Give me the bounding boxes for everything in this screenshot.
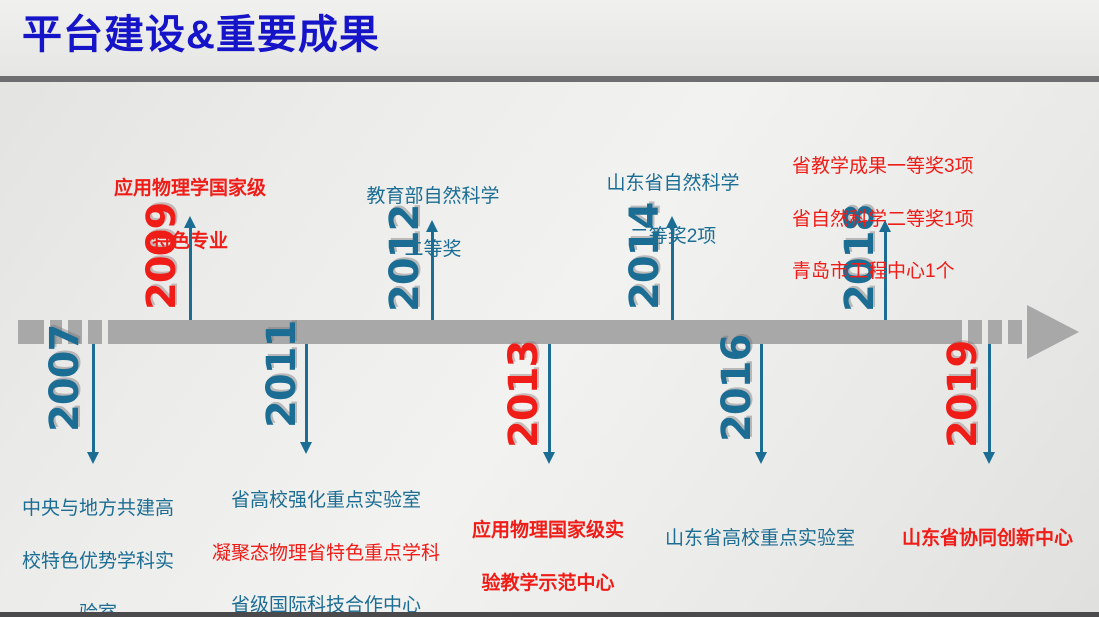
caption-line: 特色专业: [85, 229, 295, 255]
caption-2009: 应用物理学国家级 特色专业: [85, 150, 295, 281]
caption-line: 山东省协同创新中心: [880, 526, 1095, 552]
connector-2007: [92, 344, 95, 454]
arrow-down-icon-2011: [300, 442, 312, 454]
connector-2013: [548, 344, 551, 454]
header-divider: [0, 76, 1099, 82]
connector-2016: [760, 344, 763, 454]
timeline-notch: [102, 320, 108, 344]
caption-2016: 山东省高校重点实验室: [645, 500, 875, 579]
connector-2019: [988, 344, 991, 454]
caption-line: 教育部自然科学: [338, 184, 528, 210]
caption-2019: 山东省协同创新中心: [880, 500, 1095, 579]
caption-line: 青岛市工程中心1个: [792, 259, 1022, 285]
arrow-down-icon-2013: [543, 452, 555, 464]
slide-canvas: 平台建设&重要成果 2007 中央与地方共建高 校特色优势学科实 验室 2009…: [0, 0, 1099, 617]
caption-2013: 应用物理国家级实 验教学示范中心: [452, 492, 644, 617]
caption-2012: 教育部自然科学 二等奖: [338, 158, 528, 289]
timeline-notch: [1002, 320, 1008, 344]
page-title: 平台建设&重要成果: [22, 12, 380, 58]
arrow-down-icon-2007: [87, 452, 99, 464]
caption-line: 省教学成果一等奖3项: [792, 154, 1022, 180]
caption-line: 省级国际科技合作中心: [210, 593, 442, 617]
year-label-2019: 2019: [943, 341, 983, 448]
caption-line: 省自然科学二等奖1项: [792, 207, 1022, 233]
year-label-2016: 2016: [717, 335, 757, 442]
caption-line: 中央与地方共建高: [8, 496, 188, 522]
caption-2007: 中央与地方共建高 校特色优势学科实 验室: [8, 470, 188, 617]
year-label-2007: 2007: [45, 325, 85, 432]
connector-2011: [305, 344, 308, 444]
timeline-arrowhead-icon: [1027, 305, 1079, 359]
caption-line: 应用物理学国家级: [85, 176, 295, 202]
caption-line: 校特色优势学科实: [8, 549, 188, 575]
caption-line: 山东省自然科学: [578, 171, 768, 197]
caption-line: 凝聚态物理省特色重点学科: [210, 541, 442, 567]
caption-line: 山东省高校重点实验室: [645, 526, 875, 552]
arrow-down-icon-2016: [755, 452, 767, 464]
caption-line: 验室: [8, 601, 188, 617]
caption-2011: 省高校强化重点实验室 凝聚态物理省特色重点学科 省级国际科技合作中心: [210, 462, 442, 617]
caption-2014: 山东省自然科学 二等奖2项: [578, 145, 768, 276]
caption-2018: 省教学成果一等奖3项 省自然科学二等奖1项 青岛市工程中心1个: [792, 128, 1022, 312]
year-label-2011: 2011: [262, 321, 302, 428]
caption-line: 省高校强化重点实验室: [210, 488, 442, 514]
caption-line: 应用物理国家级实: [452, 518, 644, 544]
caption-line: 二等奖2项: [578, 224, 768, 250]
caption-line: 二等奖: [338, 237, 528, 263]
year-label-2013: 2013: [504, 341, 544, 448]
arrow-down-icon-2019: [983, 452, 995, 464]
caption-line: 验教学示范中心: [452, 571, 644, 597]
